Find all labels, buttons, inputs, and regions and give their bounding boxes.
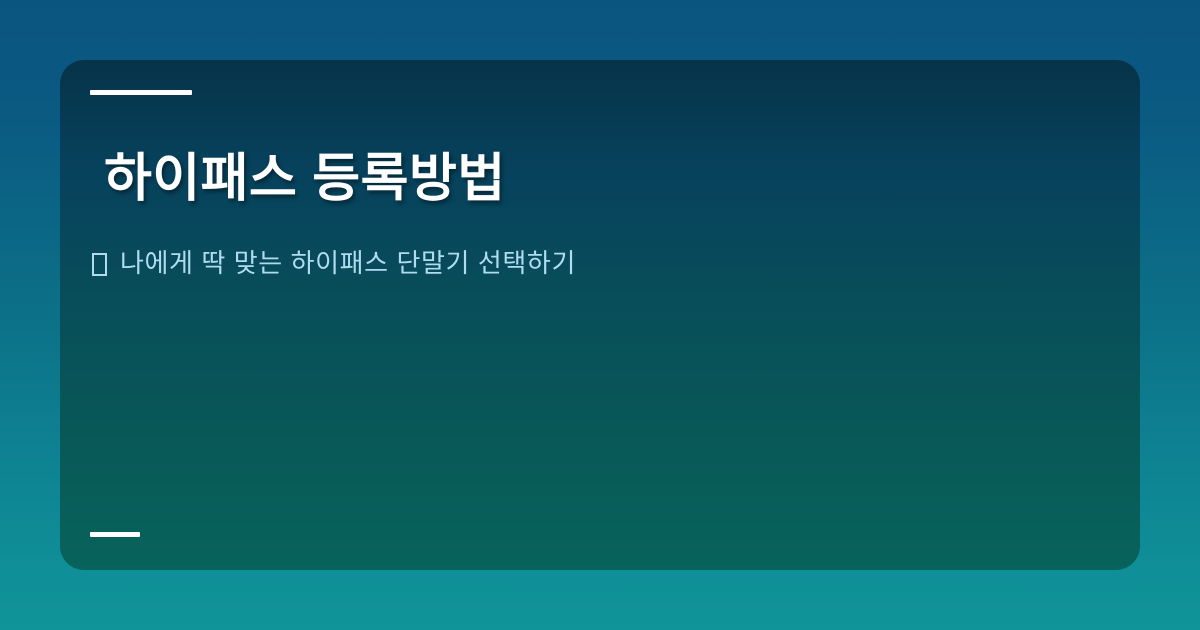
page-title: 하이패스 등록방법 xyxy=(104,148,506,211)
page-subtitle: 나에게 딱 맞는 하이패스 단말기 선택하기 xyxy=(92,246,576,281)
accent-rule-top xyxy=(90,90,192,95)
thumbnail-canvas: 하이패스 등록방법 나에게 딱 맞는 하이패스 단말기 선택하기 xyxy=(0,0,1200,630)
content-card: 하이패스 등록방법 나에게 딱 맞는 하이패스 단말기 선택하기 xyxy=(60,60,1140,570)
page-subtitle-label: 나에게 딱 맞는 하이패스 단말기 선택하기 xyxy=(120,246,576,281)
card-inner: 하이패스 등록방법 나에게 딱 맞는 하이패스 단말기 선택하기 xyxy=(60,60,1140,570)
accent-rule-bottom xyxy=(90,532,140,537)
missing-glyph-box-icon xyxy=(92,253,107,276)
